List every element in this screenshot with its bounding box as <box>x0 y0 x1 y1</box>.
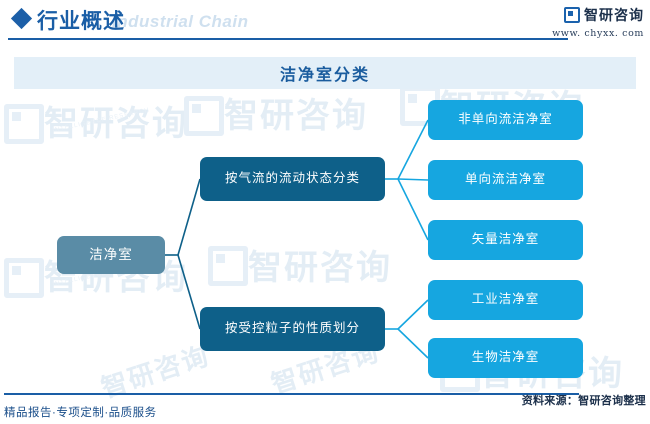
edge-branch1-leaf-2 <box>398 179 428 180</box>
brand-block: 智研咨询 www. chyxx. com <box>552 5 644 39</box>
edge-branch2-leaf-1 <box>398 300 428 329</box>
brand-row: 智研咨询 <box>552 5 644 25</box>
edge-branch2-leaf-2 <box>398 329 428 358</box>
footer-divider <box>4 393 579 395</box>
footer-source: 资料来源：智研咨询整理 <box>522 392 646 408</box>
node-leaf-1[interactable]: 非单向流洁净室 <box>428 100 583 140</box>
edge-root-branch-1 <box>178 179 200 255</box>
edge-branch1-leaf-1 <box>398 120 428 179</box>
node-root[interactable]: 洁净室 <box>57 236 165 274</box>
header-divider <box>8 38 568 40</box>
brand-name: 智研咨询 <box>584 5 644 25</box>
page-footer: 精品报告·专项定制·品质服务 资料来源：智研咨询整理 <box>0 392 650 424</box>
edge-branch1-leaf-3 <box>398 179 428 240</box>
edge-root-branch-2 <box>178 255 200 329</box>
brand-logo-icon <box>564 7 580 23</box>
node-branch-2[interactable]: 按受控粒子的性质划分 <box>200 307 385 351</box>
node-leaf-5[interactable]: 生物洁净室 <box>428 338 583 378</box>
diamond-icon <box>11 8 32 29</box>
org-diagram: 洁净室 按气流的流动状态分类 按受控粒子的性质划分 非单向流洁净室 单向流洁净室… <box>0 0 650 424</box>
page-header: Industrial Chain 行业概述 智研咨询 www. chyxx. c… <box>0 0 650 46</box>
node-branch-1[interactable]: 按气流的流动状态分类 <box>200 157 385 201</box>
node-leaf-3[interactable]: 矢量洁净室 <box>428 220 583 260</box>
footer-tagline: 精品报告·专项定制·品质服务 <box>4 404 157 420</box>
node-leaf-2[interactable]: 单向流洁净室 <box>428 160 583 200</box>
node-leaf-4[interactable]: 工业洁净室 <box>428 280 583 320</box>
header-ghost-label: Industrial Chain <box>112 12 248 32</box>
page-title: 行业概述 <box>37 5 125 35</box>
brand-url: www. chyxx. com <box>552 28 644 39</box>
